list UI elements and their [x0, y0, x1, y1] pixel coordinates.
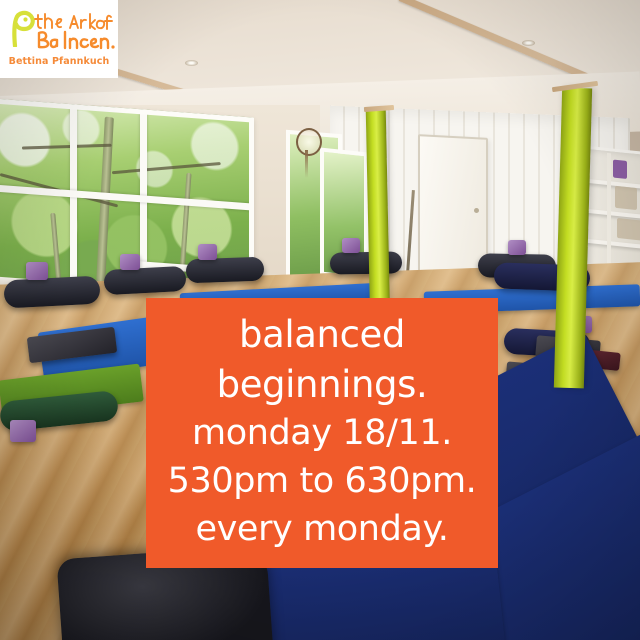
announcement-line-3: monday 18/11. — [192, 416, 452, 451]
dreamcatcher-icon — [296, 128, 322, 156]
door-knob-icon — [474, 208, 479, 213]
bolster — [330, 251, 402, 274]
logo-lockup — [6, 7, 112, 53]
recessed-light-icon — [522, 40, 535, 46]
announcement-line-1: balanced — [239, 316, 405, 353]
practitioner-name: Bettina Pfannkuch — [6, 56, 112, 67]
brand-logo-card: Bettina Pfannkuch — [0, 0, 118, 78]
announcement-panel: balanced beginnings. monday 18/11. 530pm… — [146, 298, 498, 568]
brand-wordmark — [32, 9, 118, 51]
announcement-line-5: every monday. — [195, 512, 448, 547]
recessed-light-icon — [185, 60, 198, 66]
bolster — [186, 257, 265, 284]
yoga-block — [26, 262, 48, 280]
dreamcatcher-tail — [305, 150, 308, 178]
yoga-block — [198, 244, 217, 260]
bolster — [103, 266, 186, 295]
poster-canvas: Bettina Pfannkuch balanced beginnings. m… — [0, 0, 640, 640]
bolster — [3, 276, 100, 309]
yoga-block — [120, 254, 140, 270]
yoga-block — [10, 420, 36, 442]
announcement-line-4: 530pm to 630pm. — [168, 464, 477, 499]
announcement-line-2: beginnings. — [217, 366, 428, 403]
yoga-block — [342, 238, 360, 253]
yoga-block — [508, 240, 526, 255]
